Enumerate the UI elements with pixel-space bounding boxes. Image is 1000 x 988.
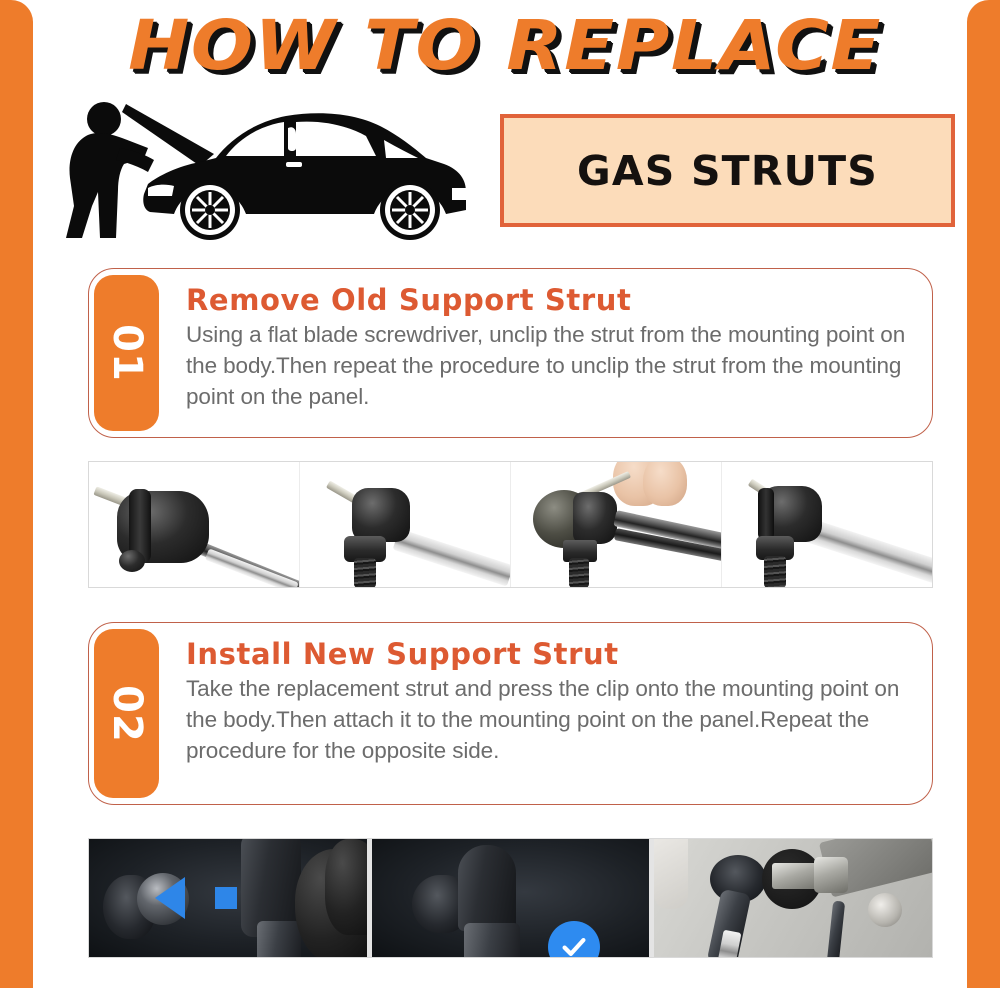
step-text-02: Take the replacement strut and press the…	[186, 673, 908, 766]
step-card-02: 02 Install New Support Strut Take the re…	[88, 622, 933, 805]
page-title: HOW TO REPLACE	[33, 2, 976, 90]
photo-socket-cap-with-screwdriver	[89, 462, 299, 587]
left-orange-bar	[0, 0, 33, 988]
title-container: HOW TO REPLACE	[60, 2, 950, 90]
photo-prying-clip	[300, 462, 510, 587]
blue-left-arrow-icon	[155, 877, 185, 919]
step-number-label: 02	[103, 685, 149, 743]
right-orange-bar	[967, 0, 1000, 988]
photo-strip-removal	[88, 461, 933, 588]
car-hood-illustration-icon	[60, 92, 480, 250]
photo-socket-detached	[722, 462, 932, 587]
step-number-tab-02: 02	[94, 629, 159, 798]
infographic-page: HOW TO REPLACE	[0, 0, 1000, 988]
step-text-01: Using a flat blade screwdriver, unclip t…	[186, 319, 908, 412]
photo-strip-installation	[88, 838, 933, 958]
step-heading-01: Remove Old Support Strut	[186, 283, 908, 317]
product-name-label: GAS STRUTS	[577, 147, 878, 195]
photo-strut-seated-correctly	[372, 839, 650, 957]
photo-fingers-releasing-clip	[511, 462, 721, 587]
step-body-01: Remove Old Support Strut Using a flat bl…	[186, 269, 908, 437]
photo-strut-bolted-to-bracket	[654, 839, 932, 957]
step-card-01: 01 Remove Old Support Strut Using a flat…	[88, 268, 933, 438]
photo-gloved-hand-pressing-strut	[89, 839, 367, 957]
step-number-tab-01: 01	[94, 275, 159, 431]
step-heading-02: Install New Support Strut	[186, 637, 908, 671]
step-number-label: 01	[103, 324, 149, 382]
hero-row: GAS STRUTS	[60, 92, 955, 252]
product-name-box: GAS STRUTS	[500, 114, 955, 227]
step-body-02: Install New Support Strut Take the repla…	[186, 623, 908, 804]
